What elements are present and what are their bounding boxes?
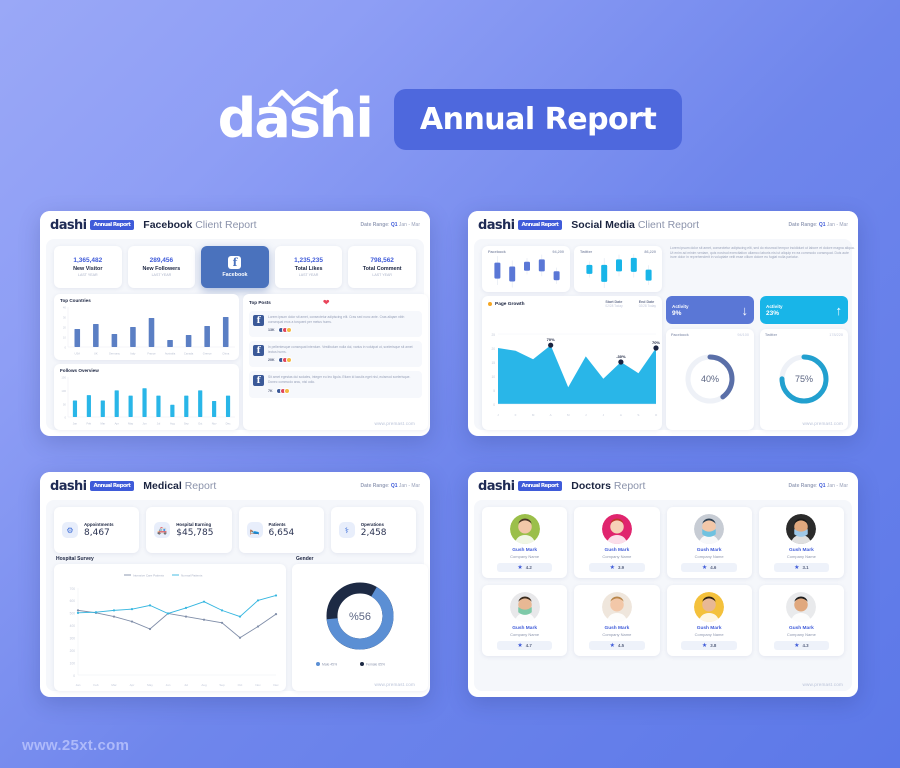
star-icon: ★ — [702, 643, 707, 649]
panel-logo-badge: Annual Report — [518, 220, 563, 230]
doctor-card[interactable]: Gush MarkCompany Name★4.7 — [482, 585, 567, 656]
date-range-quarter: Q1 — [391, 222, 398, 228]
stat-value: 1,235,235 — [294, 257, 323, 264]
facebook-icon: f — [253, 345, 264, 356]
svg-text:10: 10 — [63, 336, 67, 340]
post-count: 13K — [268, 328, 275, 332]
avatar — [602, 514, 632, 544]
list-item[interactable]: f Lorem ipsum dolor sit amet, consectetu… — [249, 311, 422, 337]
svg-text:Canada: Canada — [184, 352, 194, 356]
panel-watermark: www.premast.com — [802, 682, 843, 687]
top-posts-card[interactable]: Top Posts ❤ f Lorem ipsum dolor sit amet… — [243, 294, 428, 430]
svg-text:A: A — [620, 413, 622, 417]
panel-title-rest: Client Report — [638, 219, 699, 231]
chart-facebook-mini[interactable]: Facebook 94,200 — [482, 246, 570, 292]
rating-value: 4.6 — [710, 565, 716, 570]
svg-text:Jun: Jun — [166, 683, 171, 687]
activity-card-down[interactable]: Activity 9% ↓ — [666, 296, 754, 324]
doctor-card[interactable]: Gush MarkCompany Name★3.9 — [574, 507, 659, 578]
stat-card-hospital-earning[interactable]: 🚑 Hospital Earning $45,785 — [146, 507, 231, 553]
bar-chart-canvas: 050100150JanFebMarAprMayJunJulAugSepOctN… — [54, 373, 239, 427]
svg-text:500: 500 — [70, 612, 76, 616]
svg-text:Sep: Sep — [219, 683, 225, 687]
panel-medical-report[interactable]: dashiAnnual Report Medical Report Date R… — [40, 472, 430, 697]
svg-text:France: France — [147, 352, 156, 356]
panel-logo-badge: Annual Report — [90, 481, 135, 491]
panel-logo-text: dashi — [478, 218, 515, 233]
stat-value: 8,467 — [84, 528, 114, 538]
end-date-block: End Date 02/28 Today — [639, 300, 656, 308]
date-range-value: Jan - Mar — [399, 222, 420, 228]
stat-label: Total Comment — [363, 266, 402, 272]
svg-text:Oct: Oct — [198, 422, 202, 426]
date-range-quarter: Q1 — [819, 483, 826, 489]
star-icon: ★ — [702, 565, 707, 571]
stat-cards-row: ⚙ Appointments 8,467 🚑 Hospital Earning … — [54, 507, 416, 553]
svg-text:Sep: Sep — [184, 422, 189, 426]
doctor-company: Company Name — [787, 632, 816, 637]
svg-text:May: May — [128, 422, 134, 426]
doctor-name: Gush Mark — [789, 548, 814, 553]
svg-text:100: 100 — [70, 661, 76, 665]
rating-value: 3.9 — [618, 565, 624, 570]
rating-badge[interactable]: ★3.8 — [681, 641, 737, 650]
panel-logo-text: dashi — [478, 479, 515, 494]
stat-cards-row: 1,365,482 New Visitor LAST YEAR 289,456 … — [54, 246, 416, 288]
stat-value: 6,654 — [269, 528, 295, 538]
stat-label: New Followers — [143, 266, 181, 272]
post-text: Lorem ipsum dolor sit amet, consectetur … — [268, 315, 418, 324]
activity-title: Activity — [672, 304, 689, 309]
panel-header: dashiAnnual Report Social Media Client R… — [468, 211, 858, 239]
doctor-card[interactable]: Gush MarkCompany Name★4.6 — [667, 507, 752, 578]
list-item[interactable]: f In pellentesque consequat interdum. Ve… — [249, 341, 422, 367]
svg-text:Apr: Apr — [130, 683, 135, 687]
svg-text:15: 15 — [491, 361, 495, 365]
doctor-name: Gush Mark — [697, 626, 722, 631]
date-range[interactable]: Date Range: Q1 Jan - Mar — [361, 483, 420, 489]
svg-text:A: A — [550, 413, 552, 417]
svg-text:Aug: Aug — [201, 683, 207, 687]
chart-twitter-mini[interactable]: Twitter 86,220 — [574, 246, 662, 292]
stat-card-total-likes[interactable]: 1,235,235 Total Likes LAST YEAR — [275, 246, 343, 288]
arrow-up-icon: ↑ — [836, 304, 843, 317]
panel-logo-badge: Annual Report — [90, 220, 135, 230]
svg-text:F: F — [515, 413, 517, 417]
date-range-label: Date Range — [789, 483, 817, 489]
avatar — [694, 514, 724, 544]
reactions-icon — [278, 327, 292, 333]
date-range-label: Date Range — [789, 222, 817, 228]
arrow-down-icon: ↓ — [742, 304, 749, 317]
activity-percent: 9% — [672, 310, 689, 317]
svg-text:Oct: Oct — [238, 683, 243, 687]
svg-text:0: 0 — [64, 416, 66, 420]
stat-card-total-comment[interactable]: 798,562 Total Comment LAST YEAR — [348, 246, 416, 288]
svg-text:700: 700 — [70, 587, 76, 591]
stat-card-new-followers[interactable]: 289,456 New Followers LAST YEAR — [128, 246, 196, 288]
panel-title-bold: Social Media — [571, 219, 635, 231]
stat-value: 289,456 — [150, 257, 174, 264]
panel-logo-text: dashi — [50, 479, 87, 494]
doctor-card[interactable]: Gush MarkCompany Name★3.8 — [667, 585, 752, 656]
svg-text:J: J — [603, 413, 605, 417]
svg-text:Jun: Jun — [142, 422, 147, 426]
svg-text:300: 300 — [70, 637, 76, 641]
svg-text:M: M — [532, 413, 535, 417]
svg-text:Feb: Feb — [87, 422, 92, 426]
chart-title: Follows Overview — [54, 364, 239, 373]
status-dot-icon — [488, 302, 492, 306]
squiggle-icon — [268, 88, 348, 110]
panel-header: dashiAnnual Report Facebook Client Repor… — [40, 211, 430, 239]
site-watermark: www.25xt.com — [22, 737, 129, 754]
avatar — [510, 592, 540, 622]
doctor-name: Gush Mark — [512, 626, 537, 631]
svg-text:0: 0 — [493, 403, 495, 407]
stat-card-patients[interactable]: 🛌 Patients 6,654 — [239, 507, 324, 553]
stat-label: New Visitor — [73, 266, 102, 272]
reactions-icon — [276, 388, 290, 394]
svg-text:Australia: Australia — [165, 352, 176, 356]
doctor-company: Company Name — [695, 632, 724, 637]
svg-text:Apr: Apr — [115, 422, 119, 426]
stat-sub: LAST YEAR — [372, 273, 392, 277]
svg-text:150: 150 — [61, 376, 66, 380]
chart-title: Top Countries — [54, 294, 239, 303]
svg-text:Aug: Aug — [170, 422, 175, 426]
stat-card-appointments[interactable]: ⚙ Appointments 8,467 — [54, 507, 139, 553]
svg-text:Germany: Germany — [109, 352, 121, 356]
doctor-company: Company Name — [602, 554, 631, 559]
top-posts-header: Top Posts ❤ — [243, 294, 428, 307]
candlestick-chart-canvas — [574, 254, 662, 288]
svg-text:China: China — [222, 352, 230, 356]
svg-text:20: 20 — [63, 326, 67, 330]
candlestick-chart-canvas — [482, 254, 570, 288]
stat-sub: LAST YEAR — [152, 273, 172, 277]
post-count: 20K — [268, 358, 275, 362]
svg-text:20: 20 — [491, 347, 495, 351]
panel-title-rest: Report — [614, 480, 646, 492]
svg-text:Nov: Nov — [212, 422, 217, 426]
panel-logo: dashiAnnual Report — [478, 218, 562, 233]
svg-text:5: 5 — [493, 389, 495, 393]
surgery-icon: ⚕ — [339, 522, 355, 538]
panel-title: Medical Report — [143, 480, 216, 492]
stat-sub: LAST YEAR — [299, 273, 319, 277]
star-icon: ★ — [517, 565, 522, 571]
stat-card-new-visitor[interactable]: 1,365,482 New Visitor LAST YEAR — [54, 246, 122, 288]
doctor-company: Company Name — [510, 554, 539, 559]
date-range-label: Date Range — [361, 483, 389, 489]
doctor-name: Gush Mark — [604, 548, 629, 553]
donut-facebook[interactable]: Facebook 94/100 40% — [666, 329, 754, 430]
panel-social-media-client-report[interactable]: dashiAnnual Report Social Media Client R… — [468, 211, 858, 436]
doctor-company: Company Name — [510, 632, 539, 637]
doctor-company: Company Name — [787, 554, 816, 559]
panel-logo: dashiAnnual Report — [50, 479, 134, 494]
stat-label: Appointments — [84, 522, 114, 527]
annual-report-label: Annual Report — [420, 102, 656, 137]
svg-text:10: 10 — [491, 375, 495, 379]
date-range-quarter: Q1 — [819, 222, 826, 228]
dashi-logo: dashi — [218, 92, 372, 146]
stat-value: 1,365,482 — [73, 257, 102, 264]
ambulance-icon: 🚑 — [154, 522, 170, 538]
svg-text:Female 65%: Female 65% — [366, 662, 385, 666]
stat-card-operations[interactable]: ⚕ Operations 2,458 — [331, 507, 416, 553]
panel-logo: dashiAnnual Report — [478, 479, 562, 494]
description-text: Lorem ipsum dolor sit amet, consectetur … — [670, 246, 856, 260]
svg-text:70%: 70% — [547, 337, 555, 342]
rating-badge[interactable]: ★4.3 — [774, 641, 830, 650]
svg-text:25: 25 — [491, 333, 495, 337]
panel-title-rest: Report — [185, 480, 217, 492]
doctor-name: Gush Mark — [789, 626, 814, 631]
svg-text:Normal Patients: Normal Patients — [181, 573, 203, 577]
doctor-name: Gush Mark — [604, 626, 629, 631]
rating-badge[interactable]: ★3.1 — [774, 563, 830, 572]
date-range[interactable]: Date Range: Q1 Jan - Mar — [789, 483, 848, 489]
panel-header: dashiAnnual Report Doctors Report Date R… — [468, 472, 858, 500]
rating-value: 4.2 — [526, 565, 532, 570]
date-range[interactable]: Date Range: Q1 Jan - Mar — [361, 222, 420, 228]
panel-watermark: www.premast.com — [374, 682, 415, 687]
rating-badge[interactable]: ★4.6 — [681, 563, 737, 572]
facebook-icon: f — [253, 315, 264, 326]
doctor-card[interactable]: Gush MarkCompany Name★4.3 — [759, 585, 844, 656]
panel-logo-text: dashi — [50, 218, 87, 233]
svg-text:USA: USA — [75, 352, 81, 356]
rating-value: 3.8 — [710, 643, 716, 648]
rating-value: 4.3 — [803, 643, 809, 648]
svg-text:50: 50 — [63, 402, 67, 406]
svg-text:Jul: Jul — [184, 683, 188, 687]
svg-text:Mar: Mar — [100, 422, 105, 426]
rating-value: 4.7 — [526, 643, 532, 648]
rating-value: 4.5 — [618, 643, 624, 648]
panel-title: Facebook Client Report — [143, 219, 256, 231]
facebook-icon: f — [253, 375, 264, 386]
chart-gender[interactable]: %56Male 45%Female 65% — [292, 564, 428, 691]
stat-value: 798,562 — [370, 257, 394, 264]
svg-text:30: 30 — [63, 316, 67, 320]
rating-badge[interactable]: ★3.9 — [589, 563, 645, 572]
doctor-card[interactable]: Gush MarkCompany Name★4.2 — [482, 507, 567, 578]
donut-twitter[interactable]: Twitter 178/220 75% — [760, 329, 848, 430]
stat-value: $45,785 — [176, 528, 213, 538]
panel-title-bold: Facebook — [143, 219, 192, 231]
bar-chart-canvas: 010203040USAUKGermanyItalyFranceAustrali… — [54, 303, 239, 357]
svg-text:Jan: Jan — [76, 683, 81, 687]
activity-card-up[interactable]: Activity 23% ↑ — [760, 296, 848, 324]
donut-chart-canvas: %56Male 45%Female 65% — [292, 564, 428, 691]
stat-label: Total Likes — [295, 266, 323, 272]
doctor-card[interactable]: Gush MarkCompany Name★3.1 — [759, 507, 844, 578]
svg-text:Italy: Italy — [130, 352, 136, 356]
donut-chart-canvas: 75% — [760, 337, 848, 419]
svg-text:Feb: Feb — [93, 683, 99, 687]
top-posts-title: Top Posts — [249, 300, 271, 305]
svg-text:Dec: Dec — [226, 422, 231, 426]
svg-text:%56: %56 — [349, 611, 371, 623]
svg-text:0: 0 — [64, 346, 66, 350]
doctor-name: Gush Mark — [512, 548, 537, 553]
stat-label: Operations — [361, 522, 387, 527]
star-icon: ★ — [794, 565, 799, 571]
chart-follows-overview[interactable]: Follows Overview 050100150JanFebMarAprMa… — [54, 364, 239, 430]
svg-text:70%: 70% — [652, 340, 660, 345]
post-count: 7K — [268, 389, 273, 393]
svg-text:Nov: Nov — [255, 683, 261, 687]
panel-title: Social Media Client Report — [571, 219, 699, 231]
chart-page-growth[interactable]: Page Growth Start Date 02/28 Today End D… — [482, 296, 662, 430]
svg-text:UK: UK — [94, 352, 98, 356]
svg-text:May: May — [147, 683, 153, 687]
svg-text:Jan: Jan — [73, 422, 78, 426]
svg-text:J: J — [585, 413, 587, 417]
svg-text:75%: 75% — [795, 374, 813, 384]
list-item[interactable]: f Sit amet egestas dui sodales, integer … — [249, 371, 422, 397]
panel-doctors-report[interactable]: dashiAnnual Report Doctors Report Date R… — [468, 472, 858, 697]
doctor-card-grid: Gush MarkCompany Name★4.2Gush MarkCompan… — [482, 507, 844, 656]
annual-report-pill: Annual Report — [394, 89, 682, 150]
svg-text:Jul: Jul — [157, 422, 161, 426]
panel-title-bold: Medical — [143, 480, 182, 492]
panel-title-bold: Doctors — [571, 480, 611, 492]
area-chart-canvas: 051015202570%-30%70%JFMAMJJASO — [482, 308, 662, 420]
section-title-hospital-survey: Hospital Survey — [56, 556, 94, 562]
stat-card-facebook[interactable]: f Facebook — [201, 246, 269, 288]
date-range-value: Jan - Mar — [827, 222, 848, 228]
panel-logo: dashiAnnual Report — [50, 218, 134, 233]
date-range-quarter: Q1 — [391, 483, 398, 489]
avatar — [510, 514, 540, 544]
stat-sub: LAST YEAR — [78, 273, 98, 277]
chart-hospital-survey[interactable]: 0100200300400500600700JanFebMarAprMayJun… — [54, 564, 286, 691]
doctor-name: Gush Mark — [697, 548, 722, 553]
stat-label: Hospital Earning — [176, 522, 213, 527]
avatar — [786, 514, 816, 544]
star-icon: ★ — [517, 643, 522, 649]
post-text: In pellentesque consequat interdum. Vest… — [268, 345, 418, 354]
svg-text:0: 0 — [73, 674, 75, 678]
svg-text:Dec: Dec — [273, 683, 279, 687]
panel-logo-badge: Annual Report — [518, 481, 563, 491]
rating-badge[interactable]: ★4.5 — [589, 641, 645, 650]
svg-text:Male 45%: Male 45% — [322, 662, 337, 666]
rating-value: 3.1 — [803, 565, 809, 570]
panel-title: Doctors Report — [571, 480, 645, 492]
svg-text:J: J — [497, 413, 499, 417]
facebook-icon: f — [228, 256, 241, 269]
svg-text:600: 600 — [70, 599, 76, 603]
heart-icon: ❤ — [323, 298, 330, 307]
panel-facebook-client-report[interactable]: dashiAnnual Report Facebook Client Repor… — [40, 211, 430, 436]
hero-header: dashi Annual Report — [0, 84, 900, 154]
svg-text:40%: 40% — [701, 374, 719, 384]
activity-percent: 23% — [766, 310, 783, 317]
gear-icon: ⚙ — [62, 522, 78, 538]
date-range[interactable]: Date Range: Q1 Jan - Mar — [789, 222, 848, 228]
reactions-icon — [278, 357, 292, 363]
chart-title: Page Growth — [495, 302, 525, 307]
stat-value: 2,458 — [361, 528, 387, 538]
svg-text:40: 40 — [63, 306, 67, 310]
star-icon: ★ — [794, 643, 799, 649]
panel-watermark: www.premast.com — [374, 421, 415, 426]
star-icon: ★ — [610, 565, 615, 571]
avatar — [786, 592, 816, 622]
post-text: Sit amet egestas dui sodales, integer eu… — [268, 375, 418, 384]
stat-label: Patients — [269, 522, 295, 527]
bed-icon: 🛌 — [247, 522, 263, 538]
date-range-label: Date Range — [361, 222, 389, 228]
svg-text:S: S — [637, 413, 639, 417]
svg-text:400: 400 — [70, 624, 76, 628]
panel-header: dashiAnnual Report Medical Report Date R… — [40, 472, 430, 500]
doctor-card[interactable]: Gush MarkCompany Name★4.5 — [574, 585, 659, 656]
panel-watermark: www.premast.com — [802, 421, 843, 426]
activity-title: Activity — [766, 304, 783, 309]
svg-text:100: 100 — [61, 389, 66, 393]
avatar — [694, 592, 724, 622]
stat-label: Facebook — [222, 272, 247, 278]
chart-top-countries[interactable]: Top Countries 010203040USAUKGermanyItaly… — [54, 294, 239, 360]
section-title-gender: Gender — [296, 556, 314, 562]
svg-text:O: O — [655, 413, 658, 417]
panel-title-rest: Client Report — [195, 219, 256, 231]
svg-text:-30%: -30% — [616, 354, 626, 359]
doctor-company: Company Name — [602, 632, 631, 637]
start-date-block: Start Date 02/28 Today — [605, 300, 622, 308]
star-icon: ★ — [610, 643, 615, 649]
rating-badge[interactable]: ★4.2 — [497, 563, 553, 572]
svg-text:200: 200 — [70, 649, 76, 653]
date-range-value: Jan - Mar — [827, 483, 848, 489]
date-range-value: Jan - Mar — [399, 483, 420, 489]
svg-text:Intensive Care Patients: Intensive Care Patients — [133, 573, 165, 577]
avatar — [602, 592, 632, 622]
svg-text:M: M — [567, 413, 570, 417]
line-chart-canvas: 0100200300400500600700JanFebMarAprMayJun… — [54, 564, 286, 691]
donut-chart-canvas: 40% — [666, 337, 754, 419]
rating-badge[interactable]: ★4.7 — [497, 641, 553, 650]
svg-text:Greece: Greece — [203, 352, 212, 356]
doctor-company: Company Name — [695, 554, 724, 559]
svg-text:Mar: Mar — [111, 683, 116, 687]
